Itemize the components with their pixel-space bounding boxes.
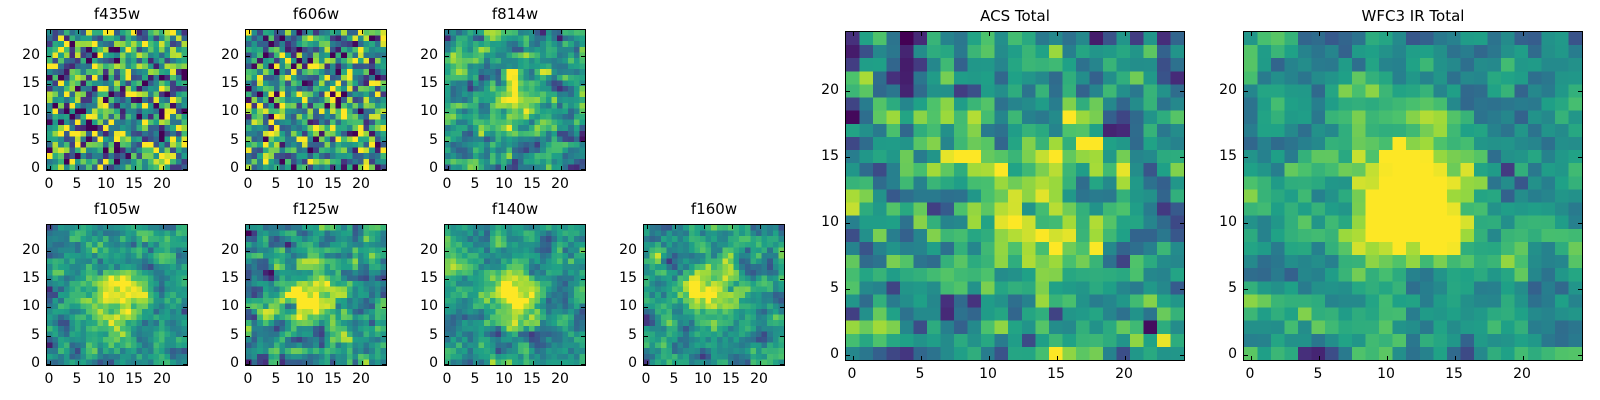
x-tick-mark (505, 166, 506, 170)
y-tick-mark (445, 307, 449, 308)
heatmap-axes-wfc3-ir-total[interactable] (1243, 31, 1583, 361)
y-tick-mark (183, 279, 187, 280)
y-tick-label: 10 (402, 299, 438, 313)
x-tick-mark (135, 30, 136, 34)
x-tick-mark (476, 166, 477, 170)
y-tick-label: 20 (601, 243, 637, 257)
x-tick-mark (107, 166, 108, 170)
y-tick-mark (246, 56, 250, 57)
y-tick-mark (1578, 355, 1582, 356)
y-tick-mark (246, 279, 250, 280)
heatmap-image-wfc3-ir-total (1244, 32, 1582, 360)
x-tick-mark (1319, 356, 1320, 360)
heatmap-image-acs-total (846, 32, 1184, 360)
x-tick-mark (1523, 32, 1524, 36)
y-tick-mark (47, 279, 51, 280)
heatmap-axes-f160w[interactable] (643, 224, 785, 366)
x-tick-mark (334, 30, 335, 34)
y-tick-mark (246, 364, 250, 365)
y-tick-mark (1180, 355, 1184, 356)
y-tick-label: 0 (4, 356, 40, 370)
panel-f105w: f105w0510152005101520 (46, 224, 188, 366)
y-tick-mark (644, 364, 648, 365)
y-tick-mark (382, 169, 386, 170)
y-tick-mark (581, 141, 585, 142)
heatmap-axes-f140w[interactable] (444, 224, 586, 366)
x-tick-label: 20 (341, 372, 381, 386)
y-tick-mark (183, 84, 187, 85)
y-tick-label: 15 (402, 271, 438, 285)
y-tick-mark (581, 336, 585, 337)
x-tick-mark (921, 32, 922, 36)
panel-acs-total: ACS Total0510152005101520 (845, 31, 1185, 361)
x-tick-label: 10 (1366, 367, 1406, 381)
y-tick-mark (1244, 355, 1248, 356)
panel-f140w: f140w0510152005101520 (444, 224, 586, 366)
y-tick-mark (1578, 289, 1582, 290)
x-tick-label: 20 (341, 177, 381, 191)
panel-title-f606w: f606w (245, 7, 387, 22)
x-tick-mark (277, 166, 278, 170)
y-tick-mark (445, 141, 449, 142)
x-tick-mark (249, 30, 250, 34)
x-tick-mark (1125, 32, 1126, 36)
x-tick-mark (277, 225, 278, 229)
x-tick-mark (78, 166, 79, 170)
x-tick-mark (277, 30, 278, 34)
x-tick-mark (163, 361, 164, 365)
y-tick-mark (780, 307, 784, 308)
y-tick-mark (47, 307, 51, 308)
y-tick-mark (183, 112, 187, 113)
x-tick-mark (1523, 356, 1524, 360)
y-tick-mark (445, 336, 449, 337)
y-tick-mark (183, 251, 187, 252)
x-tick-mark (989, 356, 990, 360)
y-tick-mark (183, 169, 187, 170)
panel-f606w: f606w0510152005101520 (245, 29, 387, 171)
heatmap-image-f814w (445, 30, 585, 170)
x-tick-mark (306, 225, 307, 229)
x-tick-mark (163, 166, 164, 170)
x-tick-mark (476, 361, 477, 365)
y-tick-mark (1180, 91, 1184, 92)
y-tick-mark (47, 112, 51, 113)
y-tick-mark (644, 307, 648, 308)
y-tick-mark (846, 289, 850, 290)
y-tick-label: 5 (4, 133, 40, 147)
y-tick-mark (382, 84, 386, 85)
heatmap-axes-f435w[interactable] (46, 29, 188, 171)
x-tick-mark (362, 225, 363, 229)
panel-title-f105w: f105w (46, 202, 188, 217)
x-tick-mark (1057, 32, 1058, 36)
y-tick-mark (382, 141, 386, 142)
x-tick-mark (50, 30, 51, 34)
y-tick-label: 0 (402, 161, 438, 175)
heatmap-image-f606w (246, 30, 386, 170)
x-tick-label: 20 (540, 177, 580, 191)
x-tick-mark (135, 361, 136, 365)
x-tick-mark (107, 361, 108, 365)
y-tick-mark (445, 84, 449, 85)
panel-f435w: f435w0510152005101520 (46, 29, 188, 171)
heatmap-axes-f105w[interactable] (46, 224, 188, 366)
y-tick-label: 5 (203, 328, 239, 342)
x-tick-mark (1251, 356, 1252, 360)
x-tick-mark (334, 361, 335, 365)
y-tick-mark (246, 336, 250, 337)
heatmap-image-f105w (47, 225, 187, 365)
x-tick-label: 20 (540, 372, 580, 386)
y-tick-mark (445, 364, 449, 365)
y-tick-label: 15 (4, 271, 40, 285)
x-tick-mark (561, 166, 562, 170)
heatmap-image-f160w (644, 225, 784, 365)
x-tick-mark (533, 30, 534, 34)
y-tick-label: 15 (1201, 149, 1237, 163)
y-tick-mark (1244, 91, 1248, 92)
x-tick-mark (249, 225, 250, 229)
y-tick-mark (1578, 91, 1582, 92)
x-tick-label: 5 (900, 367, 940, 381)
y-tick-mark (581, 279, 585, 280)
y-tick-mark (445, 251, 449, 252)
heatmap-axes-acs-total[interactable] (845, 31, 1185, 361)
y-tick-label: 10 (601, 299, 637, 313)
x-tick-mark (853, 356, 854, 360)
x-tick-mark (163, 225, 164, 229)
x-tick-mark (362, 361, 363, 365)
x-tick-mark (732, 361, 733, 365)
y-tick-label: 15 (203, 271, 239, 285)
y-tick-mark (1578, 223, 1582, 224)
x-tick-mark (78, 30, 79, 34)
x-tick-mark (533, 166, 534, 170)
y-tick-label: 0 (203, 356, 239, 370)
panel-title-acs-total: ACS Total (845, 9, 1185, 24)
x-tick-mark (1319, 32, 1320, 36)
x-tick-mark (448, 30, 449, 34)
y-tick-mark (183, 141, 187, 142)
y-tick-mark (581, 112, 585, 113)
y-tick-label: 15 (4, 76, 40, 90)
x-tick-mark (306, 361, 307, 365)
y-tick-mark (445, 169, 449, 170)
y-tick-mark (382, 364, 386, 365)
y-tick-mark (382, 251, 386, 252)
y-tick-mark (1180, 223, 1184, 224)
y-tick-mark (644, 336, 648, 337)
y-tick-mark (47, 251, 51, 252)
x-tick-mark (107, 225, 108, 229)
y-tick-label: 10 (402, 104, 438, 118)
y-tick-label: 20 (4, 48, 40, 62)
y-tick-mark (780, 336, 784, 337)
y-tick-mark (846, 157, 850, 158)
x-tick-mark (107, 30, 108, 34)
y-tick-label: 10 (4, 299, 40, 313)
x-tick-mark (1455, 32, 1456, 36)
x-tick-mark (135, 225, 136, 229)
heatmap-axes-f125w[interactable] (245, 224, 387, 366)
x-tick-mark (1125, 356, 1126, 360)
x-tick-mark (704, 225, 705, 229)
y-tick-mark (1244, 223, 1248, 224)
y-tick-label: 15 (601, 271, 637, 285)
y-tick-mark (780, 279, 784, 280)
y-tick-mark (581, 169, 585, 170)
y-tick-mark (246, 84, 250, 85)
y-tick-mark (183, 56, 187, 57)
y-tick-label: 0 (203, 161, 239, 175)
x-tick-mark (277, 361, 278, 365)
y-tick-mark (1244, 157, 1248, 158)
x-tick-mark (362, 166, 363, 170)
y-tick-label: 15 (803, 149, 839, 163)
y-tick-label: 20 (402, 48, 438, 62)
x-tick-mark (448, 225, 449, 229)
x-tick-mark (561, 361, 562, 365)
x-tick-mark (362, 30, 363, 34)
y-tick-mark (246, 251, 250, 252)
y-tick-mark (47, 141, 51, 142)
y-tick-mark (445, 112, 449, 113)
y-tick-mark (581, 84, 585, 85)
x-tick-mark (78, 225, 79, 229)
x-tick-label: 15 (1036, 367, 1076, 381)
x-tick-label: 5 (1298, 367, 1338, 381)
y-tick-mark (382, 112, 386, 113)
panel-f125w: f125w0510152005101520 (245, 224, 387, 366)
panel-title-f140w: f140w (444, 202, 586, 217)
y-tick-label: 20 (4, 243, 40, 257)
y-tick-label: 20 (1201, 83, 1237, 97)
y-tick-label: 10 (203, 104, 239, 118)
x-tick-mark (505, 225, 506, 229)
y-tick-mark (382, 336, 386, 337)
x-tick-mark (1387, 32, 1388, 36)
y-tick-mark (1578, 157, 1582, 158)
y-tick-mark (581, 307, 585, 308)
y-tick-mark (382, 307, 386, 308)
panel-title-f160w: f160w (643, 202, 785, 217)
x-tick-mark (476, 30, 477, 34)
heatmap-axes-f606w[interactable] (245, 29, 387, 171)
y-tick-label: 5 (203, 133, 239, 147)
y-tick-mark (846, 355, 850, 356)
y-tick-mark (183, 307, 187, 308)
x-tick-mark (921, 356, 922, 360)
y-tick-label: 0 (601, 356, 637, 370)
panel-title-f435w: f435w (46, 7, 188, 22)
y-tick-label: 5 (601, 328, 637, 342)
x-tick-label: 20 (1104, 367, 1144, 381)
x-tick-label: 0 (832, 367, 872, 381)
y-tick-mark (644, 251, 648, 252)
x-tick-mark (675, 361, 676, 365)
y-tick-label: 10 (4, 104, 40, 118)
y-tick-mark (1244, 289, 1248, 290)
y-tick-mark (644, 279, 648, 280)
y-tick-mark (246, 141, 250, 142)
x-tick-mark (561, 30, 562, 34)
y-tick-mark (47, 56, 51, 57)
y-tick-mark (47, 336, 51, 337)
x-tick-mark (505, 361, 506, 365)
y-tick-label: 20 (402, 243, 438, 257)
x-tick-mark (306, 30, 307, 34)
y-tick-label: 10 (203, 299, 239, 313)
x-tick-mark (1251, 32, 1252, 36)
heatmap-axes-f814w[interactable] (444, 29, 586, 171)
y-tick-mark (445, 279, 449, 280)
y-tick-mark (1180, 157, 1184, 158)
x-tick-mark (533, 361, 534, 365)
y-tick-label: 15 (402, 76, 438, 90)
y-tick-mark (382, 279, 386, 280)
panel-f160w: f160w0510152005101520 (643, 224, 785, 366)
y-tick-label: 0 (803, 347, 839, 361)
y-tick-label: 15 (203, 76, 239, 90)
y-tick-label: 5 (402, 328, 438, 342)
x-tick-mark (505, 30, 506, 34)
x-tick-mark (533, 225, 534, 229)
y-tick-mark (780, 251, 784, 252)
y-tick-label: 5 (4, 328, 40, 342)
y-tick-label: 20 (203, 48, 239, 62)
x-tick-mark (334, 225, 335, 229)
x-tick-mark (50, 225, 51, 229)
x-tick-label: 15 (1434, 367, 1474, 381)
y-tick-label: 20 (203, 243, 239, 257)
x-tick-mark (760, 225, 761, 229)
x-tick-mark (732, 225, 733, 229)
x-tick-mark (78, 361, 79, 365)
y-tick-label: 5 (402, 133, 438, 147)
y-tick-mark (581, 56, 585, 57)
x-tick-label: 20 (1502, 367, 1542, 381)
y-tick-mark (47, 84, 51, 85)
x-tick-label: 20 (739, 372, 779, 386)
x-tick-mark (306, 166, 307, 170)
y-tick-mark (445, 56, 449, 57)
x-tick-mark (163, 30, 164, 34)
heatmap-image-f125w (246, 225, 386, 365)
y-tick-label: 20 (803, 83, 839, 97)
x-tick-mark (135, 166, 136, 170)
y-tick-label: 10 (803, 215, 839, 229)
panel-title-wfc3-ir-total: WFC3 IR Total (1243, 9, 1583, 24)
y-tick-label: 10 (1201, 215, 1237, 229)
y-tick-mark (846, 91, 850, 92)
y-tick-label: 5 (803, 281, 839, 295)
y-tick-label: 0 (4, 161, 40, 175)
y-tick-mark (780, 364, 784, 365)
panel-wfc3-ir-total: WFC3 IR Total0510152005101520 (1243, 31, 1583, 361)
y-tick-mark (581, 251, 585, 252)
x-tick-mark (1387, 356, 1388, 360)
panel-title-f814w: f814w (444, 7, 586, 22)
x-tick-mark (1455, 356, 1456, 360)
y-tick-mark (183, 364, 187, 365)
x-tick-label: 0 (1230, 367, 1270, 381)
y-tick-mark (846, 223, 850, 224)
y-tick-mark (47, 169, 51, 170)
y-tick-mark (1180, 289, 1184, 290)
panel-title-f125w: f125w (245, 202, 387, 217)
y-tick-mark (47, 364, 51, 365)
y-tick-mark (246, 169, 250, 170)
y-tick-mark (382, 56, 386, 57)
x-tick-label: 20 (142, 372, 182, 386)
x-tick-label: 20 (142, 177, 182, 191)
x-tick-mark (853, 32, 854, 36)
y-tick-mark (183, 336, 187, 337)
x-tick-mark (334, 166, 335, 170)
y-tick-label: 0 (402, 356, 438, 370)
x-tick-mark (476, 225, 477, 229)
x-tick-mark (760, 361, 761, 365)
y-tick-label: 5 (1201, 281, 1237, 295)
x-tick-mark (1057, 356, 1058, 360)
y-tick-mark (246, 112, 250, 113)
heatmap-image-f140w (445, 225, 585, 365)
x-tick-mark (647, 225, 648, 229)
x-tick-mark (561, 225, 562, 229)
y-tick-mark (581, 364, 585, 365)
heatmap-image-f435w (47, 30, 187, 170)
x-tick-mark (704, 361, 705, 365)
y-tick-label: 0 (1201, 347, 1237, 361)
x-tick-mark (675, 225, 676, 229)
y-tick-mark (246, 307, 250, 308)
x-tick-mark (989, 32, 990, 36)
x-tick-label: 10 (968, 367, 1008, 381)
panel-f814w: f814w0510152005101520 (444, 29, 586, 171)
